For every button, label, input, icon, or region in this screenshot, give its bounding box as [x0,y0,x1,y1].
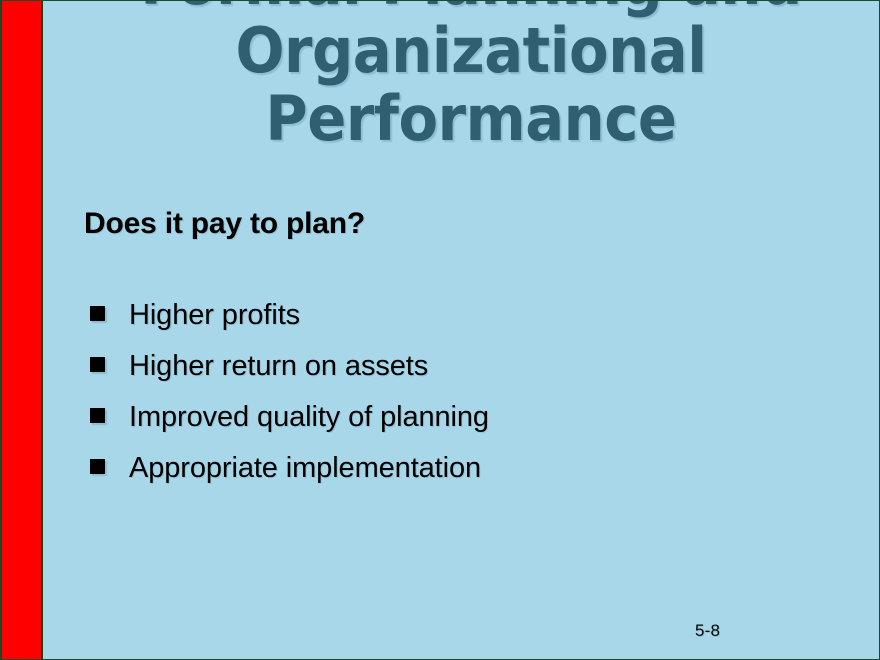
square-bullet-icon [90,357,105,372]
list-item: Higher return on assets [84,341,844,392]
lead-question: Does it pay to plan? [84,206,844,242]
list-item-label: Higher return on assets [129,350,428,382]
slide-title-line-2: Organizational [90,17,853,85]
presentation-slide: Formal Planning and Organizational Perfo… [0,0,880,660]
square-bullet-icon [90,408,105,423]
list-item-label: Improved quality of planning [129,401,489,433]
list-item-label: Appropriate implementation [129,452,481,484]
page-number: 5-8 [695,621,720,641]
square-bullet-icon [90,459,105,474]
list-item: Higher profits [84,290,844,341]
square-bullet-icon [90,306,105,321]
slide-body: Does it pay to plan? Higher profits High… [84,206,844,494]
list-item: Appropriate implementation [84,443,844,494]
slide-title-line-3: Performance [90,85,853,153]
left-accent-bar [1,1,43,660]
list-item-label: Higher profits [129,299,300,331]
slide-title: Formal Planning and Organizational Perfo… [61,0,880,153]
bullet-list: Higher profits Higher return on assets I… [84,290,844,494]
list-item: Improved quality of planning [84,392,844,443]
